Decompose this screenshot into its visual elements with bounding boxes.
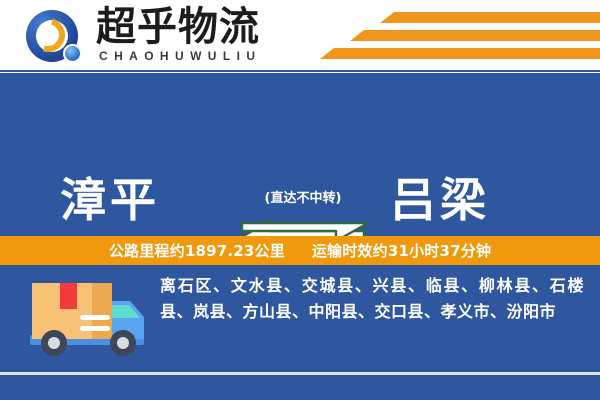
truck-front-hub xyxy=(117,337,129,349)
poster-header: 超乎物流 CHAOHUWULIU xyxy=(0,0,600,72)
direct-shipping-note: (直达不中转) xyxy=(238,187,368,206)
chaohu-circle-logo-icon xyxy=(22,6,97,66)
route-info-bar: 公路里程约1897.23公里 运输时效约31小时37分钟 xyxy=(0,236,600,265)
truck-box-line-1 xyxy=(80,315,110,320)
delivery-truck-icon xyxy=(26,275,152,361)
distance-label: 公路里程约1897.23公里 xyxy=(109,242,285,260)
duration-label: 运输时效约31小时37分钟 xyxy=(312,242,491,260)
stripe-2 xyxy=(350,30,600,41)
truck-rear-hub xyxy=(48,337,60,349)
stripe-1 xyxy=(380,12,600,23)
truck-cargo-label xyxy=(60,283,77,309)
coverage-panel: 离石区、文水县、交城县、兴县、临县、柳林县、石楼县、岚县、方山县、中阳县、交口县… xyxy=(0,265,600,372)
route-panel: 漳平 (直达不中转) 【往返运输】 吕梁 xyxy=(0,73,600,236)
info-bar-content: 公路里程约1897.23公里 运输时效约31小时37分钟 xyxy=(109,240,491,261)
destination-city: 吕梁 xyxy=(390,164,490,230)
logo-accent-dot-icon xyxy=(63,44,82,63)
origin-city: 漳平 xyxy=(60,164,160,230)
brand-name-en: CHAOHUWULIU xyxy=(99,49,261,63)
coverage-areas-text: 离石区、文水县、交城县、兴县、临县、柳林县、石楼县、岚县、方山县、中阳县、交口县… xyxy=(160,273,584,325)
brand-name-cn: 超乎物流 xyxy=(96,5,260,49)
poster-footer xyxy=(0,375,600,400)
stripe-3 xyxy=(320,48,600,59)
header-divider xyxy=(0,70,600,72)
orange-speed-stripes-icon xyxy=(320,6,600,68)
truck-box-line-2 xyxy=(80,326,110,331)
logistics-route-poster: 超乎物流 CHAOHUWULIU 漳平 (直达不中转) 【往返运输】 吕梁 公路… xyxy=(0,0,600,400)
